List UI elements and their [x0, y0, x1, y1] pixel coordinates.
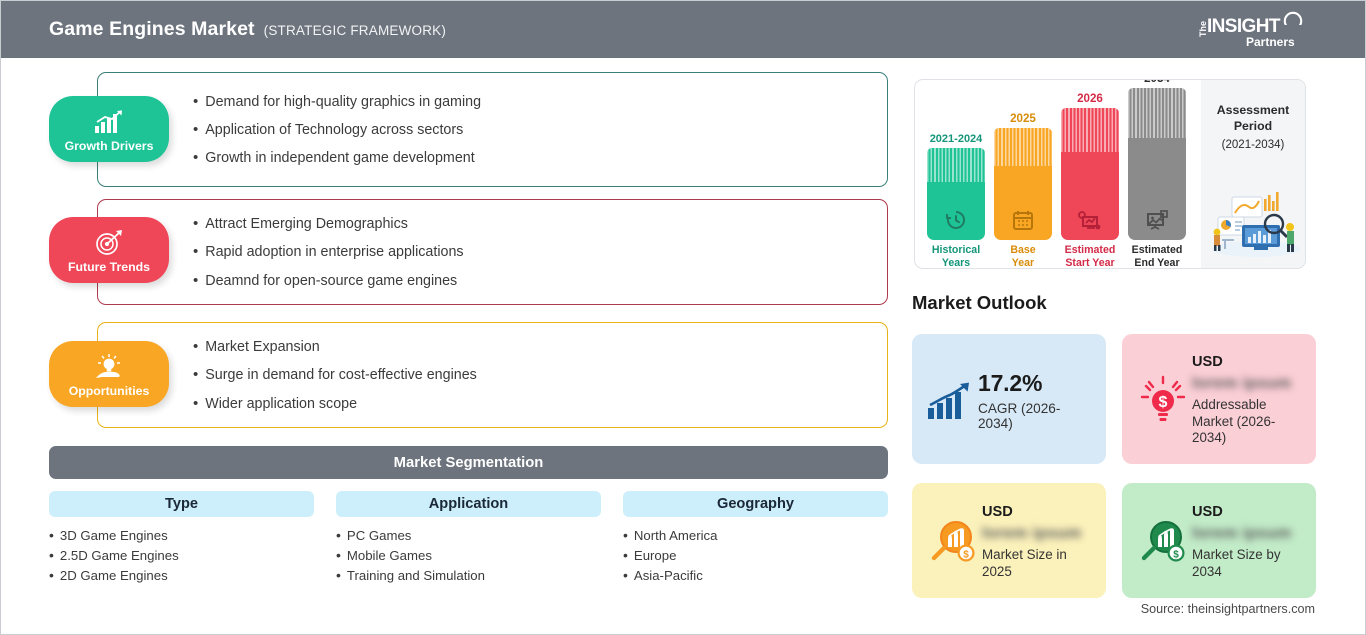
infographic-canvas: Game Engines Market (STRATEGIC FRAMEWORK…	[0, 0, 1366, 635]
segment-header-label: Application	[429, 496, 508, 512]
bullet-dot: •	[623, 546, 628, 566]
segment-header: Type	[49, 491, 314, 517]
list-item: • Training and Simulation	[336, 566, 601, 586]
chart-bar-year-label: 2025	[994, 112, 1052, 125]
assessment-period-title: Assessment Period	[1201, 102, 1305, 134]
segment-header: Application	[336, 491, 601, 517]
card-inner: $ USD lorem ipsum Market Size in 2025	[912, 483, 1106, 598]
caption-line-2: Start Year	[1065, 257, 1114, 269]
caption-line-1: Estimated	[1065, 244, 1116, 256]
usd-label: USD	[1192, 504, 1304, 520]
segment-list: • 3D Game Engines • 2.5D Game Engines • …	[49, 526, 314, 586]
list-item-label: Market Expansion	[205, 340, 319, 354]
card-description: Market Size in 2025	[982, 547, 1094, 581]
list-item: • Deamnd for open-source game engines	[193, 266, 464, 294]
assessment-period-bar-chart: 2021-2024 Historical Years	[915, 80, 1203, 269]
list-item-label: PC Games	[347, 526, 412, 546]
usd-label: USD	[982, 504, 1094, 520]
list-item-label: Europe	[634, 546, 677, 566]
growth-drivers-pill[interactable]: Growth Drivers	[49, 96, 169, 162]
svg-text:$: $	[1159, 394, 1168, 411]
bar-chart-arrow-up-icon	[93, 105, 125, 135]
pill-label: Opportunities	[69, 380, 150, 407]
list-item: • Mobile Games	[336, 546, 601, 566]
list-item: • Attract Emerging Demographics	[193, 210, 464, 238]
chart-bar-group: 2034 Estimated End	[1128, 79, 1186, 269]
list-item: • Asia-Pacific	[623, 566, 888, 586]
chart-bar-hatch	[927, 148, 985, 182]
list-item: • North America	[623, 526, 888, 546]
bullet-dot: •	[193, 273, 198, 288]
lightbulb-in-hand-icon	[92, 350, 126, 380]
list-item-label: Rapid adoption in enterprise application…	[205, 245, 463, 259]
chart-bar-hatch	[1061, 108, 1119, 152]
chart-bar-caption: Estimated End Year	[1128, 244, 1186, 269]
caption-line-2: Years	[942, 257, 970, 269]
assessment-period-range: (2021-2034)	[1201, 139, 1305, 151]
magnifier-bar-chart-dollar-icon: $	[924, 496, 982, 588]
caption-line-1: Historical	[932, 244, 980, 256]
market-segmentation-bar: Market Segmentation	[49, 446, 888, 479]
blurred-value: lorem ipsum	[1192, 375, 1304, 393]
chart-bar-year-label: 2034	[1128, 79, 1186, 85]
source-attribution: Source: theinsightpartners.com	[1141, 602, 1315, 616]
bullet-dot: •	[336, 566, 341, 586]
chart-bar-caption: Base Year	[994, 244, 1052, 269]
card-body: USD lorem ipsum Market Size in 2025	[982, 496, 1094, 588]
blurred-value: lorem ipsum	[982, 525, 1094, 543]
magnifier-bar-chart-dollar-icon: $	[1134, 496, 1192, 588]
assessment-period-legend: Assessment Period (2021-2034)	[1201, 80, 1305, 268]
pill-label: Future Trends	[68, 256, 150, 283]
segmentation-column-geography: Geography • North America • Europe • Asi…	[623, 491, 888, 591]
blurred-value: lorem ipsum	[1192, 525, 1304, 543]
chart-bar-year-label: 2026	[1061, 92, 1119, 105]
list-item-label: Demand for high-quality graphics in gami…	[205, 95, 481, 109]
bullet-dot: •	[49, 526, 54, 546]
segmentation-columns: Type • 3D Game Engines • 2.5D Game Engin…	[49, 491, 888, 591]
card-body: USD lorem ipsum Market Size by 2034	[1192, 496, 1304, 588]
chart-bar-group: 2025 Base Year	[994, 112, 1052, 269]
bullet-dot: •	[193, 396, 198, 411]
card-body: 17.2% CAGR (2026-2034)	[978, 370, 1094, 431]
card-description: Addressable Market (2026-2034)	[1192, 397, 1304, 447]
bullet-dot: •	[336, 526, 341, 546]
segment-header-label: Geography	[717, 496, 794, 512]
card-body: USD lorem ipsum Addressable Market (2026…	[1192, 347, 1304, 454]
list-item-label: 2D Game Engines	[60, 566, 168, 586]
chart-bar-caption: Estimated Start Year	[1061, 244, 1119, 269]
outlook-card-cagr[interactable]: 17.2% CAGR (2026-2034)	[912, 334, 1106, 464]
page-subtitle: (STRATEGIC FRAMEWORK)	[264, 23, 446, 38]
chart-bar-group: 2026 Estimated Star	[1061, 92, 1119, 269]
logo-svg: The INSIGHT Partners	[1190, 9, 1315, 51]
list-item: • PC Games	[336, 526, 601, 546]
monitor-gear-chart-icon	[1061, 208, 1119, 232]
chart-bar-year-label: 2021-2024	[927, 133, 985, 145]
bar-chart-arrow-up-icon	[920, 381, 978, 421]
bullet-dot: •	[193, 367, 198, 382]
future-trends-pill[interactable]: Future Trends	[49, 217, 169, 283]
list-item: • Surge in demand for cost-effective eng…	[193, 361, 477, 389]
list-item-label: Wider application scope	[205, 397, 357, 411]
opportunities-pill[interactable]: Opportunities	[49, 341, 169, 407]
assessment-period-panel: 2021-2024 Historical Years	[914, 79, 1306, 269]
chart-bar	[1061, 108, 1119, 240]
card-inner: 17.2% CAGR (2026-2034)	[912, 334, 1106, 464]
header-title-group: Game Engines Market (STRATEGIC FRAMEWORK…	[49, 18, 446, 41]
segment-list: • North America • Europe • Asia-Pacific	[623, 526, 888, 586]
bullet-dot: •	[193, 150, 198, 165]
list-item-label: 2.5D Game Engines	[60, 546, 179, 566]
list-item-label: Surge in demand for cost-effective engin…	[205, 368, 477, 382]
list-item-label: Mobile Games	[347, 546, 432, 566]
list-item-label: 3D Game Engines	[60, 526, 168, 546]
list-item-label: Application of Technology across sectors	[205, 123, 463, 137]
list-item: • 2.5D Game Engines	[49, 546, 314, 566]
bullet-dot: •	[623, 566, 628, 586]
list-item: • Demand for high-quality graphics in ga…	[193, 87, 481, 115]
page-title: Game Engines Market	[49, 18, 255, 41]
caption-line-1: Base	[1010, 244, 1035, 256]
insight-partners-logo[interactable]: The INSIGHT Partners	[1190, 9, 1315, 51]
segment-list: • PC Games • Mobile Games • Training and…	[336, 526, 601, 586]
chart-bar-group: 2021-2024 Historical Years	[927, 133, 985, 269]
list-item-label: Asia-Pacific	[634, 566, 703, 586]
market-segmentation-label: Market Segmentation	[394, 455, 544, 471]
outlook-card-market-size-2034[interactable]: $ USD lorem ipsum Market Size by 2034	[1122, 483, 1316, 598]
business-analytics-illustration	[1204, 187, 1302, 264]
list-item: • Rapid adoption in enterprise applicati…	[193, 238, 464, 266]
segmentation-column-application: Application • PC Games • Mobile Games • …	[336, 491, 601, 591]
pill-label: Growth Drivers	[65, 135, 154, 162]
segment-header-label: Type	[165, 496, 198, 512]
bullet-dot: •	[193, 122, 198, 137]
chart-bar-hatch	[1128, 88, 1186, 138]
svg-text:Partners: Partners	[1246, 35, 1295, 49]
clock-history-icon	[927, 208, 985, 232]
bullet-dot: •	[623, 526, 628, 546]
card-inner: $ USD lorem ipsum Addressable Market (20…	[1122, 334, 1316, 464]
bullet-dot: •	[193, 339, 198, 354]
caption-line-1: Estimated	[1132, 244, 1183, 256]
chart-bar-hatch	[994, 128, 1052, 166]
cagr-label: CAGR (2026-2034)	[978, 401, 1094, 431]
svg-text:$: $	[963, 550, 969, 561]
market-outlook-title: Market Outlook	[912, 292, 1047, 314]
usd-label: USD	[1192, 354, 1304, 370]
list-item: • Market Expansion	[193, 333, 477, 361]
cagr-value: 17.2%	[978, 370, 1094, 397]
bullet-dot: •	[193, 94, 198, 109]
list-item: • Europe	[623, 546, 888, 566]
caption-line-2: Year	[1012, 257, 1034, 269]
calendar-icon	[994, 208, 1052, 232]
outlook-card-market-size-2025[interactable]: $ USD lorem ipsum Market Size in 2025	[912, 483, 1106, 598]
chart-bar	[994, 128, 1052, 240]
lightbulb-dollar-icon: $	[1134, 347, 1192, 454]
bullet-dot: •	[193, 244, 198, 259]
svg-text:$: $	[1173, 550, 1179, 561]
segmentation-column-type: Type • 3D Game Engines • 2.5D Game Engin…	[49, 491, 314, 591]
chart-bar	[927, 148, 985, 240]
card-description: Market Size by 2034	[1192, 547, 1304, 581]
list-item-label: Attract Emerging Demographics	[205, 217, 408, 231]
presentation-image-icon	[1128, 208, 1186, 232]
list-item: • 2D Game Engines	[49, 566, 314, 586]
caption-line-2: End Year	[1134, 257, 1179, 269]
list-item-label: North America	[634, 526, 718, 546]
outlook-card-addressable-market[interactable]: $ USD lorem ipsum Addressable Market (20…	[1122, 334, 1316, 464]
list-item: • Growth in independent game development	[193, 144, 481, 172]
list-item: • 3D Game Engines	[49, 526, 314, 546]
chart-bar-caption: Historical Years	[927, 244, 985, 269]
list-item-label: Growth in independent game development	[205, 151, 474, 165]
chart-bar	[1128, 88, 1186, 240]
card-inner: $ USD lorem ipsum Market Size by 2034	[1122, 483, 1316, 598]
list-item: • Wider application scope	[193, 389, 477, 417]
segment-header: Geography	[623, 491, 888, 517]
bullet-dot: •	[49, 566, 54, 586]
list-item-label: Training and Simulation	[347, 566, 485, 586]
bullet-dot: •	[193, 216, 198, 231]
bullet-dot: •	[336, 546, 341, 566]
svg-text:INSIGHT: INSIGHT	[1207, 16, 1281, 37]
target-dart-icon	[94, 226, 124, 256]
list-item-label: Deamnd for open-source game engines	[205, 274, 457, 288]
header-bar: Game Engines Market (STRATEGIC FRAMEWORK…	[1, 1, 1366, 58]
bullet-dot: •	[49, 546, 54, 566]
list-item: • Application of Technology across secto…	[193, 115, 481, 143]
